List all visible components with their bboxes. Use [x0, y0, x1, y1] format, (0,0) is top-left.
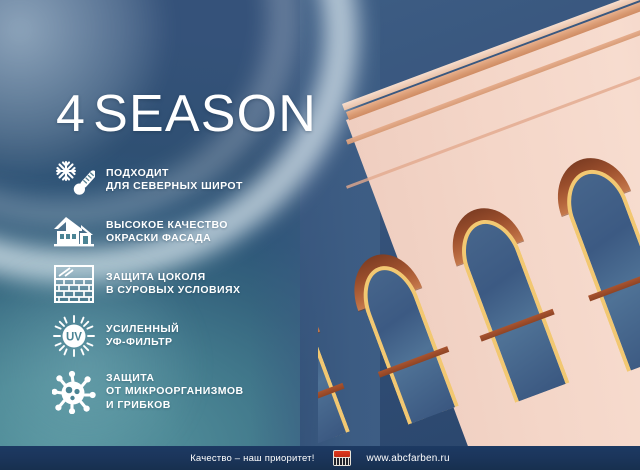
building-photo	[318, 0, 640, 452]
logo-bottom-band	[334, 458, 350, 465]
footer-bar: Качество – наш приоритет! www.abcfarben.…	[0, 446, 640, 470]
feature-line: ЗАЩИТА	[106, 372, 244, 386]
feature-line: ОТ МИКРООРГАНИЗМОВ	[106, 385, 244, 399]
feature-line: ПОДХОДИТ	[106, 167, 243, 181]
footer-website-url[interactable]: www.abcfarben.ru	[367, 453, 450, 464]
logo-top-band	[334, 451, 350, 457]
window-glass	[318, 302, 350, 449]
snowflake-thermometer-icon	[48, 159, 100, 201]
feature-label: ЗАЩИТА ЦОКОЛЯ В СУРОВЫХ УСЛОВИЯХ	[100, 271, 240, 298]
feature-label: ЗАЩИТА ОТ МИКРООРГАНИЗМОВ И ГРИБКОВ	[100, 372, 244, 413]
abc-farben-logo-icon	[333, 450, 351, 466]
feature-line: ОКРАСКИ ФАСАДА	[106, 232, 228, 246]
page-title: 4SEASON	[56, 86, 317, 142]
title-number: 4	[56, 85, 86, 143]
feature-item-facade-quality: ВЫСОКОЕ КАЧЕСТВО ОКРАСКИ ФАСАДА	[48, 207, 308, 257]
feature-line: ДЛЯ СЕВЕРНЫХ ШИРОТ	[106, 180, 243, 194]
house-icon	[48, 213, 100, 251]
footer-slogan: Качество – наш приоритет!	[190, 453, 314, 464]
window-arch	[318, 288, 320, 354]
feature-label: ВЫСОКОЕ КАЧЕСТВО ОКРАСКИ ФАСАДА	[100, 219, 228, 246]
feature-line: И ГРИБКОВ	[106, 399, 244, 413]
uv-sun-icon: UV	[48, 314, 100, 358]
feature-line: В СУРОВЫХ УСЛОВИЯХ	[106, 284, 240, 298]
feature-label: ПОДХОДИТ ДЛЯ СЕВЕРНЫХ ШИРОТ	[100, 167, 243, 194]
feature-item-microorganism-protection: ЗАЩИТА ОТ МИКРООРГАНИЗМОВ И ГРИБКОВ	[48, 363, 308, 421]
feature-item-northern-latitudes: ПОДХОДИТ ДЛЯ СЕВЕРНЫХ ШИРОТ	[48, 155, 308, 205]
feature-line: ВЫСОКОЕ КАЧЕСТВО	[106, 219, 228, 233]
feature-line: УСИЛЕННЫЙ	[106, 323, 179, 337]
feature-label: УСИЛЕННЫЙ УФ-ФИЛЬТР	[100, 323, 179, 350]
feature-item-uv-filter: UV УСИЛЕННЫЙ УФ-ФИЛЬТР	[48, 311, 308, 361]
feature-line: ЗАЩИТА ЦОКОЛЯ	[106, 271, 240, 285]
uv-icon-label: UV	[66, 332, 82, 344]
feature-item-plinth-protection: ЗАЩИТА ЦОКОЛЯ В СУРОВЫХ УСЛОВИЯХ	[48, 259, 308, 309]
microbe-icon	[48, 370, 100, 414]
title-word: SEASON	[93, 85, 317, 143]
feature-line: УФ-ФИЛЬТР	[106, 336, 179, 350]
brick-wall-icon	[48, 264, 100, 304]
poster: 4SEASON	[0, 0, 640, 470]
arched-window	[318, 288, 356, 452]
feature-list: ПОДХОДИТ ДЛЯ СЕВЕРНЫХ ШИРОТ	[48, 155, 308, 423]
